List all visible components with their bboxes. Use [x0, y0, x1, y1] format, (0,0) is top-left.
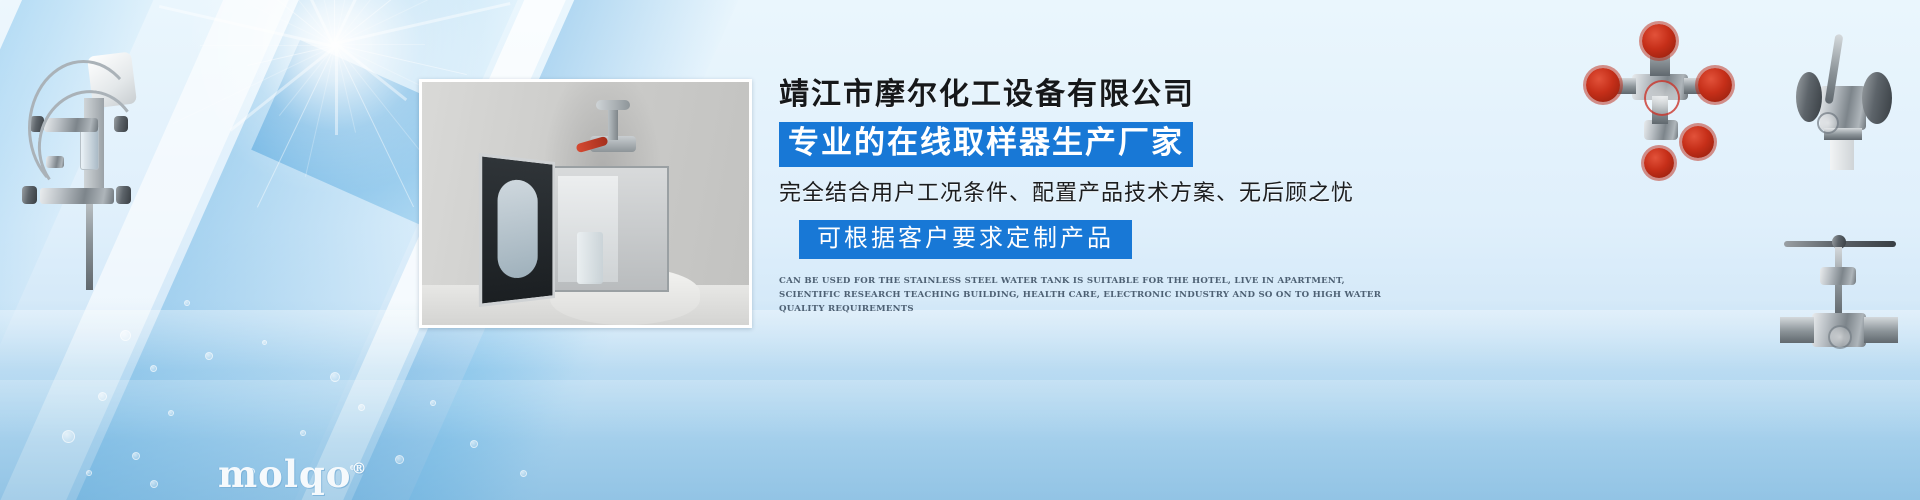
- water-bubble-icon: [470, 440, 478, 448]
- water-bubble-icon: [300, 430, 306, 436]
- valve-handwheel-red: [1682, 126, 1714, 158]
- online-sampler-assembly-render: [10, 30, 160, 280]
- sun-ray-icon: [335, 44, 425, 45]
- photo-valve-head: [590, 106, 636, 170]
- water-bubble-icon: [62, 430, 75, 443]
- gate-valve-render: [1780, 225, 1900, 370]
- water-bubble-icon: [168, 410, 174, 416]
- gate-valve-outlet: [1864, 317, 1898, 343]
- watermark-brand-text: molqo: [218, 452, 351, 496]
- photo-sample-bottle: [577, 232, 603, 284]
- photo-valve-stem: [608, 106, 618, 140]
- company-name: 靖江市摩尔化工设备有限公司: [779, 78, 1399, 111]
- registered-mark-icon: ®: [351, 460, 367, 478]
- sub-headline: 完全结合用户工况条件、配置产品技术方案、无后顾之忧: [779, 180, 1399, 206]
- wave-line: [0, 380, 1920, 440]
- valve-handwheel-red: [1698, 68, 1732, 102]
- water-bubble-icon: [98, 392, 107, 401]
- valve-flange-left: [1796, 72, 1822, 122]
- sun-ray-icon: [200, 45, 335, 46]
- water-bubble-icon: [395, 455, 404, 464]
- banner-text-block: 靖江市摩尔化工设备有限公司 专业的在线取样器生产厂家 完全结合用户工况条件、配置…: [779, 78, 1399, 317]
- sun-ray-icon: [257, 45, 336, 208]
- water-bubble-icon: [150, 480, 158, 488]
- valve-handwheel-red: [1642, 24, 1676, 58]
- headline-highlight: 专业的在线取样器生产厂家: [779, 122, 1193, 167]
- cta-highlight: 可根据客户要求定制产品: [799, 220, 1132, 259]
- water-bubble-icon: [150, 365, 157, 372]
- cross-valve-manifold-render: [1590, 28, 1730, 163]
- water-bubble-icon: [520, 470, 527, 477]
- brand-seal-icon: [1817, 112, 1839, 134]
- water-bubble-icon: [262, 340, 267, 345]
- watermark-logo: molqo®: [218, 452, 367, 496]
- valve-flange-right: [1862, 72, 1892, 124]
- promotional-banner: 靖江市摩尔化工设备有限公司 专业的在线取样器生产厂家 完全结合用户工况条件、配置…: [0, 0, 1920, 500]
- sampler-knob: [22, 186, 37, 204]
- sampling-cabinet-photo: [419, 79, 752, 328]
- valve-handwheel-red: [1586, 68, 1620, 102]
- water-bubble-icon: [358, 404, 365, 411]
- water-bubble-icon: [132, 452, 140, 460]
- water-bubble-icon: [184, 300, 190, 306]
- water-bubble-icon: [120, 330, 131, 341]
- gate-valve-inlet: [1780, 317, 1814, 343]
- flanged-lever-valve-render: [1790, 30, 1900, 170]
- valve-handwheel-red: [1644, 148, 1674, 178]
- gate-valve-bonnet: [1820, 267, 1856, 285]
- photo-valve-handle: [596, 100, 630, 110]
- water-bubble-icon: [330, 372, 340, 382]
- photo-cabinet-door: [479, 153, 555, 307]
- sun-ray-icon: [335, 44, 414, 207]
- brand-seal-icon: [1644, 80, 1680, 116]
- valve-stem-guard: [1830, 140, 1854, 170]
- photo-cabinet-body: [547, 166, 669, 292]
- photo-door-window: [498, 178, 538, 279]
- brand-seal-icon: [1828, 325, 1852, 349]
- english-description: CAN BE USED FOR THE STAINLESS STEEL WATE…: [779, 275, 1387, 317]
- wave-line: [0, 310, 1920, 370]
- water-bubble-icon: [86, 470, 92, 476]
- water-bubble-icon: [430, 400, 436, 406]
- water-bubble-icon: [205, 352, 213, 360]
